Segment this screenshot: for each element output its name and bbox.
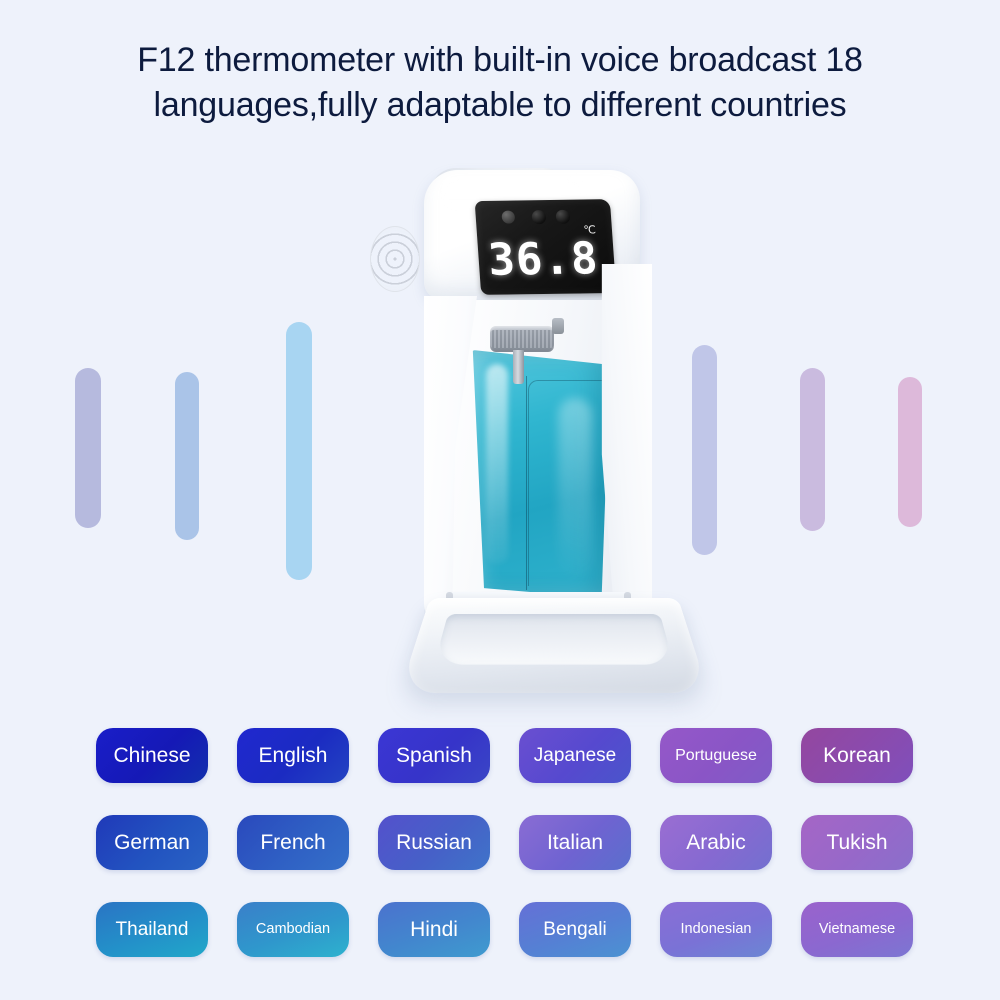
language-pill-label: Russian <box>396 832 472 853</box>
language-pill-italian[interactable]: Italian <box>519 815 631 870</box>
sound-bar-7 <box>898 377 922 527</box>
reservoir-seam <box>526 376 527 590</box>
language-pill-label: Chinese <box>113 745 190 766</box>
language-pill-arabic[interactable]: Arabic <box>660 815 772 870</box>
language-pill-bengali[interactable]: Bengali <box>519 902 631 957</box>
language-pill-label: French <box>260 832 325 853</box>
language-pill-hindi[interactable]: Hindi <box>378 902 490 957</box>
language-pill-label: Tukish <box>826 832 887 853</box>
language-pill-label: German <box>114 832 190 853</box>
ambient-light-sensor-icon <box>501 210 515 223</box>
sound-bar-5 <box>692 345 717 555</box>
sound-bar-2 <box>175 372 199 540</box>
language-pill-vietnamese[interactable]: Vietnamese <box>801 902 913 957</box>
language-pill-label: Italian <box>547 832 603 853</box>
language-pill-label: Portuguese <box>675 748 757 764</box>
language-pill-label: Thailand <box>116 920 189 939</box>
temperature-display-panel: ℃ 36.8 <box>475 199 617 295</box>
language-pill-spanish[interactable]: Spanish <box>378 728 490 783</box>
language-pill-tukish[interactable]: Tukish <box>801 815 913 870</box>
language-pill-german[interactable]: German <box>96 815 208 870</box>
language-pill-label: Arabic <box>686 832 746 853</box>
proximity-sensor-icon <box>555 210 570 224</box>
pump-nozzle <box>513 350 524 384</box>
language-pill-korean[interactable]: Korean <box>801 728 913 783</box>
pump-ridges <box>490 330 554 348</box>
reservoir-front-panel <box>528 380 602 586</box>
reservoir-highlight-left <box>486 364 508 564</box>
language-pill-russian[interactable]: Russian <box>378 815 490 870</box>
sound-bar-3 <box>286 322 312 580</box>
language-pill-label: Cambodian <box>256 922 330 937</box>
language-pill-chinese[interactable]: Chinese <box>96 728 208 783</box>
language-pill-label: Hindi <box>410 919 458 940</box>
language-pill-label: Indonesian <box>681 922 752 937</box>
language-pill-label: Spanish <box>396 745 472 766</box>
language-pill-indonesian[interactable]: Indonesian <box>660 902 772 957</box>
language-pill-cambodian[interactable]: Cambodian <box>237 902 349 957</box>
language-pill-label: Korean <box>823 745 891 766</box>
temperature-reading: 36.8 <box>477 237 609 283</box>
sound-bar-6 <box>800 368 825 531</box>
language-pill-french[interactable]: French <box>237 815 349 870</box>
language-pill-label: Bengali <box>543 920 606 939</box>
language-pill-portuguese[interactable]: Portuguese <box>660 728 772 783</box>
drip-tray-well <box>434 614 674 665</box>
language-pill-label: English <box>259 745 328 766</box>
speaker-grille-icon <box>370 226 420 292</box>
language-pill-label: Vietnamese <box>819 922 895 937</box>
language-pill-japanese[interactable]: Japanese <box>519 728 631 783</box>
sound-bar-1 <box>75 368 101 528</box>
pump-arm <box>552 318 564 334</box>
device-illustration: ℃ 36.8 <box>330 168 690 688</box>
page-title: F12 thermometer with built-in voice broa… <box>0 38 1000 128</box>
language-pill-label: Japanese <box>534 746 616 765</box>
infrared-sensor-icon <box>531 210 546 224</box>
language-pill-english[interactable]: English <box>237 728 349 783</box>
product-banner: F12 thermometer with built-in voice broa… <box>0 0 1000 1000</box>
language-pill-thailand[interactable]: Thailand <box>96 902 208 957</box>
language-list: ChineseEnglishSpanishJapanesePortugueseK… <box>96 728 914 957</box>
